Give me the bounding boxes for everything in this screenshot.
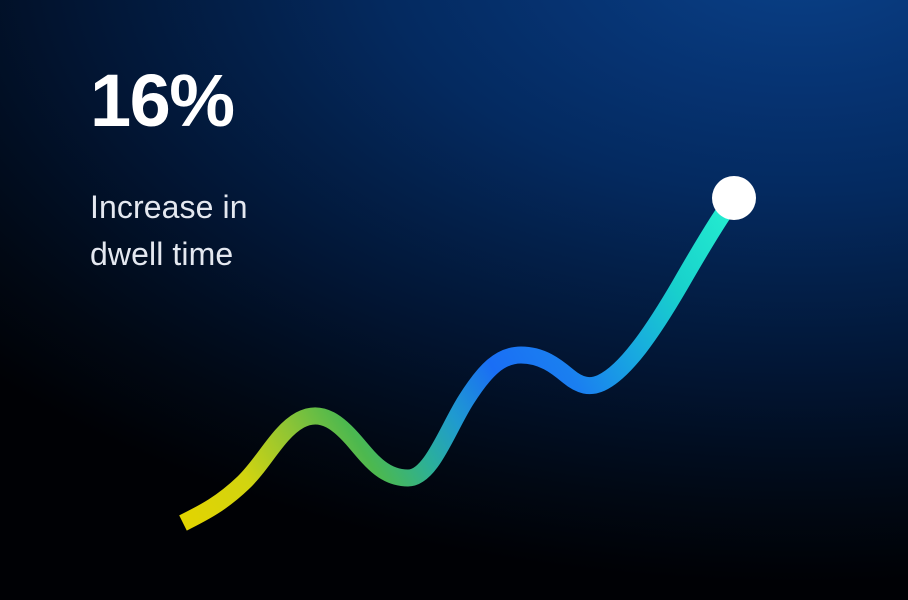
stat-card: 16% Increase in dwell time xyxy=(0,0,908,600)
stat-subtitle-line-1: Increase in xyxy=(90,184,248,231)
stat-text-block: 16% Increase in dwell time xyxy=(90,62,248,278)
stat-subtitle: Increase in dwell time xyxy=(90,140,248,278)
endpoint-marker-dot xyxy=(712,176,756,220)
page-title: 16% xyxy=(90,62,248,140)
stat-subtitle-line-2: dwell time xyxy=(90,231,248,278)
trend-line-path xyxy=(183,198,734,523)
